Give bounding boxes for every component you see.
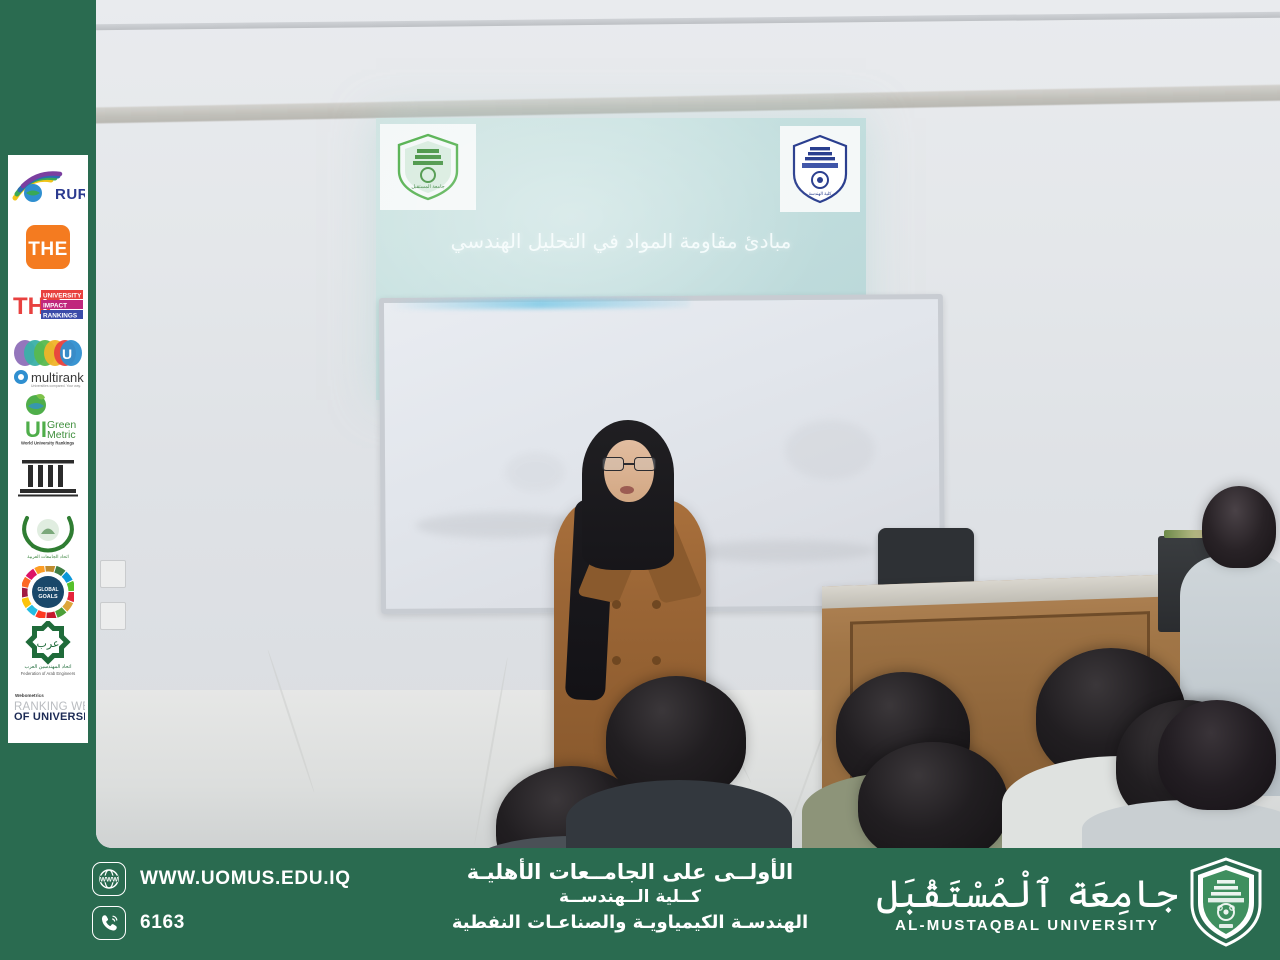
footer-bar: WWW WWW.UOMUS.EDU.IQ 6163 الأولــى على ا… bbox=[0, 848, 1280, 960]
lecturer-glasses bbox=[602, 457, 656, 471]
black-chair bbox=[878, 528, 974, 588]
svg-text:RANKINGS: RANKINGS bbox=[43, 312, 78, 319]
standing-man-head bbox=[1202, 486, 1276, 568]
lecturer-coat-button bbox=[612, 600, 621, 609]
phone-row[interactable]: 6163 bbox=[92, 906, 351, 940]
badge-label-rur: RUR bbox=[55, 186, 85, 203]
university-name-english: AL-MUSTAQBAL UNIVERSITY bbox=[876, 917, 1178, 934]
badge-the[interactable]: THE bbox=[11, 218, 85, 275]
badge-the-impact-rankings[interactable]: THE UNIVERSITY IMPACT RANKINGS bbox=[11, 276, 85, 333]
svg-text:IMPACT: IMPACT bbox=[43, 302, 67, 309]
website-row[interactable]: WWW WWW.UOMUS.EDU.IQ bbox=[92, 862, 351, 896]
tagline-line-3: الهندسـة الكيمياويـة والصناعـات النفطية bbox=[400, 910, 860, 935]
badge-sdg-global-goals[interactable]: GLOBAL GOALS bbox=[11, 563, 85, 620]
svg-text:Metric: Metric bbox=[47, 429, 76, 441]
svg-text:UNIVERSITY: UNIVERSITY bbox=[43, 292, 82, 299]
footer-tagline: الأولــى على الجامــعات الأهليـة كــلية … bbox=[400, 858, 860, 935]
poster-stage: RUR THE THE UNIVERSITY IMPACT bbox=[0, 0, 1280, 960]
svg-text:اتحاد المهندسين العرب: اتحاد المهندسين العرب bbox=[24, 664, 71, 670]
lecturer-coat-button bbox=[652, 656, 661, 665]
phone-call-icon bbox=[92, 906, 126, 940]
university-wordmark: جامِعَة ٱلْمُسْتَقْبَل AL-MUSTAQBAL UNIV… bbox=[876, 875, 1178, 934]
badge-classical-columns[interactable] bbox=[11, 448, 85, 505]
badge-ui-greenmetric[interactable]: UI Green Metric World University Ranking… bbox=[11, 391, 85, 448]
whiteboard-glare bbox=[390, 298, 690, 310]
svg-text:GOALS: GOALS bbox=[38, 594, 58, 600]
badge-label-multirank: multirank bbox=[31, 370, 84, 385]
svg-text:U: U bbox=[62, 346, 72, 362]
svg-text:OF UNIVERSITIES: OF UNIVERSITIES bbox=[14, 711, 85, 723]
badge-panel: RUR THE THE UNIVERSITY IMPACT bbox=[8, 155, 88, 743]
svg-text:كلية الهندسة: كلية الهندسة bbox=[809, 191, 832, 196]
svg-text:WWW: WWW bbox=[100, 877, 119, 884]
svg-text:UI: UI bbox=[25, 417, 47, 442]
accreditation-rankings-rail: RUR THE THE UNIVERSITY IMPACT bbox=[0, 0, 96, 850]
lecturer-mouth bbox=[620, 486, 634, 494]
badge-webometrics[interactable]: Webometrics RANKING WEB OF UNIVERSITIES bbox=[11, 678, 85, 735]
al-mustaqbal-shield-emblem bbox=[1186, 856, 1266, 953]
footer-contact-block: WWW WWW.UOMUS.EDU.IQ 6163 bbox=[92, 862, 351, 940]
badge-rur[interactable]: RUR bbox=[11, 161, 85, 218]
badge-association-of-arab-universities[interactable]: اتحاد الجامعات العربية bbox=[11, 505, 85, 562]
svg-text:جامعة المستقبل: جامعة المستقبل bbox=[411, 184, 444, 190]
svg-text:عرب: عرب bbox=[37, 638, 60, 650]
wall-light-switch-upper[interactable] bbox=[100, 560, 126, 588]
audience-head bbox=[1158, 700, 1276, 810]
badge-sub-aaru: اتحاد الجامعات العربية bbox=[27, 554, 69, 560]
website-label: WWW.UOMUS.EDU.IQ bbox=[140, 868, 351, 890]
badge-u-multirank[interactable]: U multirank Universities compared. Your … bbox=[11, 333, 85, 390]
tagline-line-2: كــلية الــهندســة bbox=[400, 886, 860, 910]
phone-label: 6163 bbox=[140, 912, 185, 934]
slide-title: مبادئ مقاومة المواد في التحليل الهندسي bbox=[376, 226, 866, 256]
www-globe-icon: WWW bbox=[92, 862, 126, 896]
badge-federation-of-arab-engineers[interactable]: عرب اتحاد المهندسين العرب Federation of … bbox=[11, 620, 85, 677]
svg-text:Federation of Arab Engineers: Federation of Arab Engineers bbox=[21, 671, 75, 676]
tagline-line-1: الأولــى على الجامــعات الأهليـة bbox=[400, 858, 860, 886]
badge-sub-webometrics: Webometrics bbox=[15, 693, 44, 698]
svg-text:GLOBAL: GLOBAL bbox=[37, 587, 58, 593]
university-name-arabic: جامِعَة ٱلْمُسْتَقْبَل bbox=[876, 875, 1178, 913]
wall-light-switch-lower[interactable] bbox=[100, 602, 126, 630]
university-brand-lockup: جامِعَة ٱلْمُسْتَقْبَل AL-MUSTAQBAL UNIV… bbox=[876, 856, 1266, 953]
lecturer-coat-button bbox=[612, 656, 621, 665]
badge-sub-greenmetric: World University Rankings bbox=[21, 441, 75, 446]
lecturer-coat-button bbox=[652, 600, 661, 609]
classroom-lecture-photo: جامعة المستقبل كلية الهندسة م bbox=[96, 0, 1280, 848]
badge-sub-multirank: Universities compared. Your way. bbox=[31, 384, 81, 388]
slide-logo-right: كلية الهندسة bbox=[780, 126, 860, 212]
badge-label-the: THE bbox=[28, 239, 68, 260]
slide-logo-left: جامعة المستقبل bbox=[380, 124, 476, 210]
